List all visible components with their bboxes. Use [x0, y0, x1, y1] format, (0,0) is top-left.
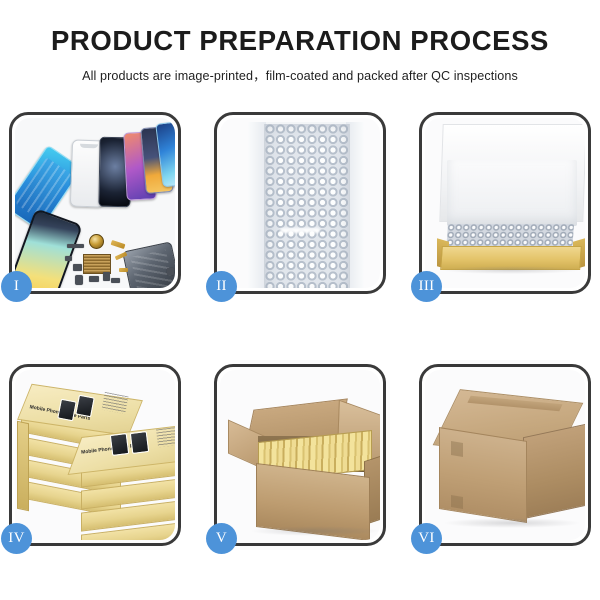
- small-part-8-icon: [167, 268, 174, 275]
- carton-corner-mark-2: [451, 495, 463, 509]
- small-part-1-icon: [73, 264, 82, 271]
- small-part-2-icon: [75, 275, 83, 285]
- step-1-image: [15, 118, 175, 288]
- carton-shadow: [250, 526, 380, 536]
- process-step-panel-6: VI: [419, 364, 591, 546]
- process-step-panel-1: I: [9, 112, 181, 294]
- step-badge-6: VI: [411, 523, 442, 554]
- page-header: PRODUCT PREPARATION PROCESS All products…: [0, 0, 600, 84]
- process-step-grid: I II: [9, 112, 591, 546]
- step-2-image: [220, 118, 380, 288]
- sealed-carton-side-face: [523, 423, 585, 519]
- step-badge-3: III: [411, 271, 442, 302]
- step-5-image: [220, 370, 380, 540]
- small-part-7-icon: [119, 268, 128, 272]
- sealed-carton-shadow: [443, 518, 581, 528]
- box-screen-image-3: [110, 433, 129, 456]
- step-badge-2: II: [206, 271, 237, 302]
- small-part-6-icon: [65, 256, 72, 261]
- step-3-image: [425, 118, 585, 288]
- page-subtitle: All products are image-printed，film-coat…: [0, 65, 600, 84]
- inner-box-shadow: [443, 266, 579, 274]
- bubble-wrap-highlight: [280, 228, 320, 233]
- small-part-5-icon: [111, 278, 120, 283]
- camera-module-icon: [89, 234, 104, 249]
- carton-corner-mark-1: [451, 441, 463, 457]
- step-badge-5: V: [206, 523, 237, 554]
- process-step-panel-2: II: [214, 112, 386, 294]
- white-foam-insert-icon: [447, 160, 577, 226]
- step-badge-4: IV: [1, 523, 32, 554]
- step-badge-1: I: [1, 271, 32, 302]
- process-step-panel-3: III: [419, 112, 591, 294]
- chip-grid-icon: [83, 254, 111, 274]
- part-connector-icon: [67, 244, 84, 248]
- process-step-panel-4: Mobile Phone Spare Parts Mobile Phone Sp…: [9, 364, 181, 546]
- process-step-panel-5: V: [214, 364, 386, 546]
- page-title: PRODUCT PREPARATION PROCESS: [0, 27, 600, 56]
- box-spec-lines-front: [156, 427, 175, 448]
- stack-side-face: [17, 421, 29, 512]
- step-4-image: Mobile Phone Spare Parts Mobile Phone Sp…: [15, 370, 175, 540]
- product-preparation-process-page: PRODUCT PREPARATION PROCESS All products…: [0, 0, 600, 600]
- box-screen-image-4: [130, 431, 149, 454]
- small-part-4-icon: [103, 272, 110, 281]
- small-part-3-icon: [89, 276, 99, 282]
- bubble-wrap-sheet-icon: [264, 124, 350, 288]
- step-6-image: [425, 370, 585, 540]
